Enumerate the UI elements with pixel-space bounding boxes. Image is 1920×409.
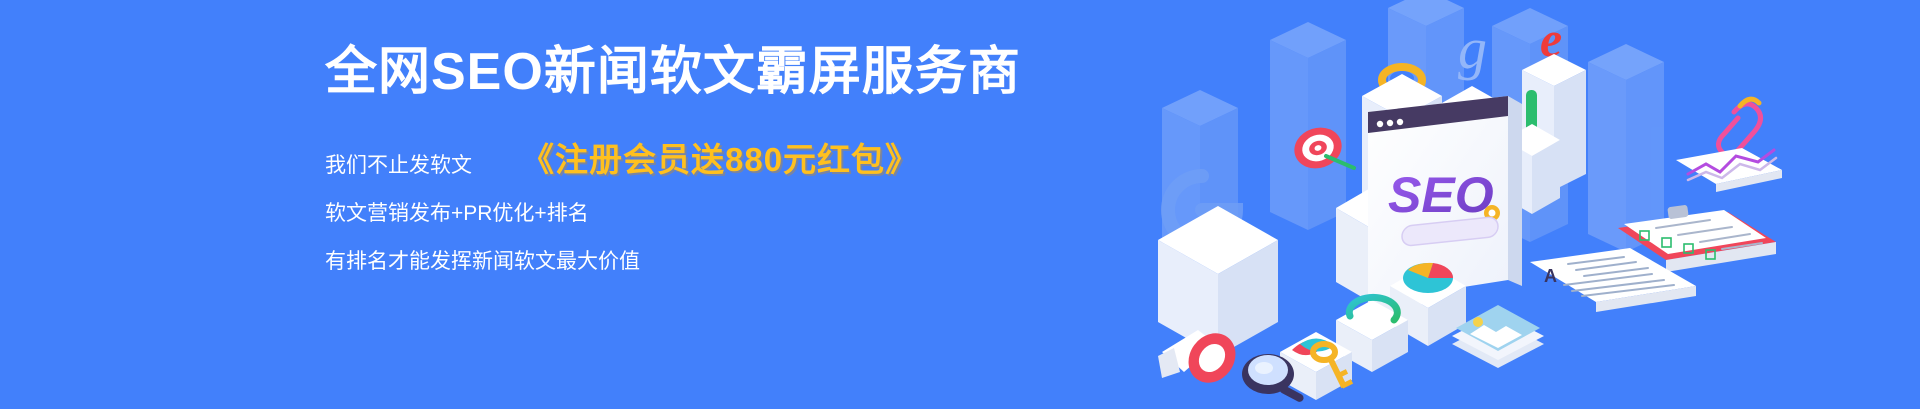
- subline-3: 有排名才能发挥新闻软文最大价值: [325, 251, 640, 272]
- page-title: 全网SEO新闻软文霸屏服务商: [325, 46, 1021, 98]
- promo-badge: 《注册会员送880元红包》: [521, 143, 919, 176]
- paperclip-icon: [1718, 99, 1760, 155]
- document-letter: A: [1544, 266, 1557, 286]
- subline-1: 我们不止发软文: [325, 155, 472, 176]
- subline-2: 软文营销发布+PR优化+排名: [325, 203, 589, 224]
- browser-seo-label: SEO: [1388, 167, 1494, 223]
- seo-promo-banner: 全网SEO新闻软文霸屏服务商 我们不止发软文 《注册会员送880元红包》 软文营…: [0, 0, 1920, 409]
- line-graph-card-icon: [1676, 148, 1782, 192]
- svg-text:g: g: [1458, 16, 1487, 81]
- banner-copy-block: 全网SEO新闻软文霸屏服务商 我们不止发软文 《注册会员送880元红包》 软文营…: [325, 0, 925, 409]
- seo-isometric-illustration: g e: [1140, 0, 1920, 409]
